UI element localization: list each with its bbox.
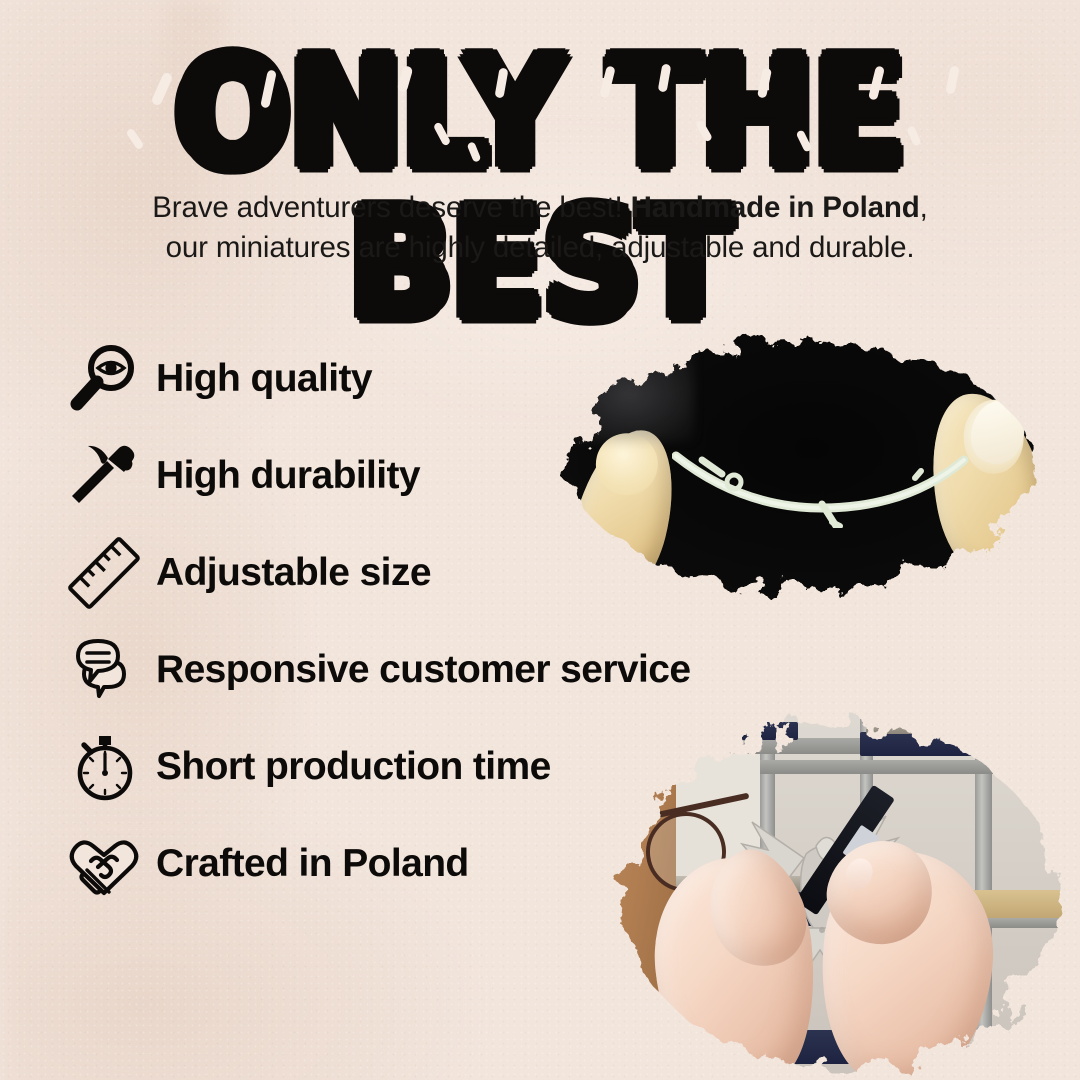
tray-top-left [678, 722, 798, 740]
hammer-icon [62, 434, 146, 518]
feature-label: Adjustable size [146, 551, 431, 595]
flexible-miniature-part [672, 438, 972, 528]
flexible-miniature-photo [520, 300, 1080, 630]
tray-parts-top [866, 716, 1071, 734]
promo-poster: ONLY THE BEST Brave adventurers deserve … [0, 0, 1080, 1080]
subtitle-line1-bold: Handmade in Poland [631, 191, 920, 224]
small-miniature [1016, 1008, 1056, 1062]
workshop-crafting-photo-masked [560, 700, 1080, 1080]
speech-bubbles-icon [62, 628, 146, 712]
handshake-heart-icon [62, 822, 146, 906]
magnifier-eye-icon [62, 337, 146, 421]
ink-fringe [534, 322, 694, 442]
workshop-crafting-photo [560, 700, 1080, 1080]
subtitle-line2: our miniatures are highly detailed, adju… [166, 231, 915, 264]
subtitle-line1-prefix: Brave adventurers deserve the best! [152, 191, 630, 224]
feature-label: Crafted in Poland [146, 842, 469, 886]
feature-label: High durability [146, 454, 420, 498]
subtitle-line1-suffix: , [920, 191, 928, 224]
shelf-beam-mid [760, 760, 1080, 774]
feature-label: High quality [146, 357, 372, 401]
tray-top-right [860, 732, 1075, 756]
subtitle: Brave adventurers deserve the best! Hand… [90, 188, 990, 268]
flexible-miniature-photo-masked [520, 300, 1080, 630]
feature-label: Responsive customer service [146, 648, 690, 692]
feature-label: Short production time [146, 745, 551, 789]
ruler-icon [62, 531, 146, 615]
stopwatch-icon [62, 725, 146, 809]
